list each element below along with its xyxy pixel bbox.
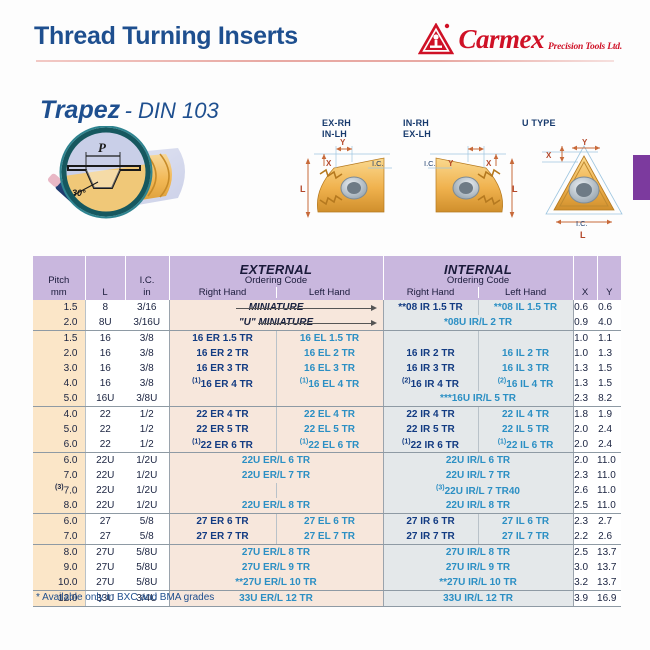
- svg-text:Y: Y: [582, 138, 588, 147]
- cell-l: 22: [85, 437, 125, 453]
- cell-external-rh: [169, 391, 276, 407]
- cell-ic: 3/8: [125, 376, 169, 391]
- cell-x: 1.0: [573, 331, 597, 347]
- cell-internal-lh: 27 IL 6 TR: [478, 514, 573, 530]
- header-rule: [36, 60, 614, 62]
- table-row: 8.027U5/8U27U ER/L 8 TR27U IR/L 8 TR2.51…: [33, 545, 621, 561]
- cell-y: 1.1: [597, 331, 621, 347]
- cell-pitch: 8.0: [33, 498, 85, 514]
- catalog-page: Thread Turning Inserts Carmex Precision …: [0, 0, 650, 650]
- brand-logo: Carmex Precision Tools Ltd.: [418, 22, 622, 56]
- table-row: 8.022U1/2U22U ER/L 8 TR22U IR/L 8 TR2.51…: [33, 498, 621, 514]
- cell-ic: 3/8: [125, 361, 169, 376]
- cell-internal-lh: 22 IL 5 TR: [478, 422, 573, 437]
- header-l: L: [85, 256, 125, 300]
- cell-y: 2.6: [597, 529, 621, 545]
- arrow-line: [258, 323, 374, 324]
- cell-l: 27: [85, 529, 125, 545]
- cell-external-span: 22U ER/L 8 TR: [169, 498, 383, 514]
- cell-external-rh: 16 ER 3 TR: [169, 361, 276, 376]
- cell-x: 1.3: [573, 376, 597, 391]
- cell-ic: 5/8U: [125, 560, 169, 575]
- cell-x: 1.3: [573, 361, 597, 376]
- cell-external-lh: 27 EL 7 TR: [276, 529, 383, 545]
- carmex-triangle-icon: [418, 23, 454, 55]
- cell-internal-span: 22U IR/L 7 TR: [383, 468, 573, 483]
- table-row: 6.0275/827 ER 6 TR27 EL 6 TR27 IR 6 TR27…: [33, 514, 621, 530]
- cell-l: 16: [85, 346, 125, 361]
- svg-text:L: L: [580, 230, 586, 240]
- table-row: 1.583/16MINIATURE**08 IR 1.5 TR**08 IL 1…: [33, 300, 621, 315]
- cell-ic: 1/2: [125, 437, 169, 453]
- table-row: 2.08U3/16U"U" MINIATURE*08U IR/L 2 TR0.9…: [33, 315, 621, 331]
- cell-y: 2.4: [597, 422, 621, 437]
- cell-ic: 3/8: [125, 331, 169, 347]
- cell-ic: 1/2U: [125, 498, 169, 514]
- cell-internal-span: 22U IR/L 6 TR: [383, 453, 573, 469]
- table-row: 9.027U5/8U27U ER/L 9 TR27U IR/L 9 TR3.01…: [33, 560, 621, 575]
- cell-external-rh: 22 ER 4 TR: [169, 407, 276, 423]
- cell-pitch: 5.0: [33, 422, 85, 437]
- cell-y: 16.9: [597, 591, 621, 607]
- cell-x: 2.6: [573, 483, 597, 498]
- cell-external-rh: 27 ER 6 TR: [169, 514, 276, 530]
- cell-y: 1.5: [597, 361, 621, 376]
- table-row: 6.022U1/2U22U ER/L 6 TR22U IR/L 6 TR2.01…: [33, 453, 621, 469]
- cell-ic: 5/8: [125, 514, 169, 530]
- cell-ic: 3/8U: [125, 391, 169, 407]
- header-int-right-hand: Right Hand: [384, 287, 478, 299]
- section-subtitle: Trapez - DIN 103: [40, 96, 219, 125]
- arrow-head-icon: [371, 305, 377, 311]
- cell-x: 1.0: [573, 346, 597, 361]
- cell-pitch: 1.5: [33, 331, 85, 347]
- cell-internal-lh: 22 IL 4 TR: [478, 407, 573, 423]
- svg-text:X: X: [546, 151, 552, 160]
- cell-pitch: 7.0: [33, 468, 85, 483]
- diagram-label-ex-rh-in-lh: EX-RHIN-LH: [322, 118, 351, 140]
- header-ic: I.C. in: [125, 256, 169, 300]
- cell-pitch: 3.0: [33, 361, 85, 376]
- cell-external-lh: 16 EL 2 TR: [276, 346, 383, 361]
- table-header-row: Pitch mm L I.C. in EXTERNAL Ordering Cod…: [33, 256, 621, 300]
- cell-internal-rh: **08 IR 1.5 TR: [383, 300, 478, 315]
- table-row: 5.0221/222 ER 5 TR22 EL 5 TR22 IR 5 TR22…: [33, 422, 621, 437]
- cell-x: 2.5: [573, 545, 597, 561]
- cell-external-span: 22U ER/L 6 TR: [169, 453, 383, 469]
- cell-y: 4.0: [597, 315, 621, 331]
- cell-internal-span: ***16U IR/L 5 TR: [383, 391, 573, 407]
- svg-text:L: L: [512, 184, 518, 194]
- cell-external-lh: (1)16 EL 4 TR: [276, 376, 383, 391]
- cell-external-rh: [169, 483, 276, 498]
- cell-y: 11.0: [597, 468, 621, 483]
- cell-pitch: 1.5: [33, 300, 85, 315]
- header-external: EXTERNAL Ordering Code Right Hand Left H…: [169, 256, 383, 300]
- cell-x: 2.3: [573, 514, 597, 530]
- cell-l: 22: [85, 422, 125, 437]
- cell-external-rh: 16 ER 2 TR: [169, 346, 276, 361]
- cell-pitch: 6.0: [33, 453, 85, 469]
- cell-y: 0.6: [597, 300, 621, 315]
- cell-l: 16U: [85, 391, 125, 407]
- cell-external-lh: 27 EL 6 TR: [276, 514, 383, 530]
- cell-ic: 3/16: [125, 300, 169, 315]
- table-row: 4.0221/222 ER 4 TR22 EL 4 TR22 IR 4 TR22…: [33, 407, 621, 423]
- table-row: 1.5163/816 ER 1.5 TR16 EL 1.5 TR1.01.1: [33, 331, 621, 347]
- cell-l: 27: [85, 514, 125, 530]
- table-row: 10.027U5/8U**27U ER/L 10 TR**27U IR/L 10…: [33, 575, 621, 591]
- cell-external-span: **27U ER/L 10 TR: [169, 575, 383, 591]
- cell-l: 22U: [85, 453, 125, 469]
- arrow-line: [236, 308, 375, 309]
- header-y: Y: [597, 256, 621, 300]
- svg-text:P: P: [98, 140, 107, 155]
- cell-internal-span: 33U IR/L 12 TR: [383, 591, 573, 607]
- diagram-label-u-type: U TYPE: [522, 118, 556, 129]
- arrow-head-icon: [371, 320, 377, 326]
- section-tab-marker: [633, 155, 650, 200]
- svg-text:Y: Y: [340, 138, 346, 147]
- cell-pitch: 4.0: [33, 407, 85, 423]
- cell-l: 22U: [85, 468, 125, 483]
- cell-y: 11.0: [597, 483, 621, 498]
- svg-text:Y: Y: [448, 159, 454, 168]
- svg-text:I.C.: I.C.: [576, 219, 588, 228]
- cell-external-rh: 22 ER 5 TR: [169, 422, 276, 437]
- cell-pitch: 6.0: [33, 437, 85, 453]
- table-row: 7.022U1/2U22U ER/L 7 TR22U IR/L 7 TR2.31…: [33, 468, 621, 483]
- cell-internal-span: 27U IR/L 8 TR: [383, 545, 573, 561]
- cell-pitch: 2.0: [33, 315, 85, 331]
- subtitle-suffix: - DIN 103: [125, 98, 219, 123]
- cell-y: 1.3: [597, 346, 621, 361]
- cell-internal-span: **27U IR/L 10 TR: [383, 575, 573, 591]
- subtitle-main: Trapez: [40, 96, 120, 124]
- cell-pitch: 4.0: [33, 376, 85, 391]
- cell-pitch: 6.0: [33, 514, 85, 530]
- cell-x: 2.3: [573, 468, 597, 483]
- cell-l: 27U: [85, 545, 125, 561]
- table-row: (3)7.022U1/2U(3)22U IR/L 7 TR402.611.0: [33, 483, 621, 498]
- brand-name: Carmex: [458, 26, 544, 53]
- cell-ic: 5/8U: [125, 575, 169, 591]
- insert-diagrams: EX-RHIN-LH IN-RHEX-LH U TYPE: [300, 118, 630, 228]
- cell-external-span: 22U ER/L 7 TR: [169, 468, 383, 483]
- cell-y: 8.2: [597, 391, 621, 407]
- cell-external-lh: 16 EL 1.5 TR: [276, 331, 383, 347]
- cell-x: 2.2: [573, 529, 597, 545]
- cell-internal-span: (3)22U IR/L 7 TR40: [383, 483, 573, 498]
- cell-l: 27U: [85, 560, 125, 575]
- header-internal: INTERNAL Ordering Code Right Hand Left H…: [383, 256, 573, 300]
- cell-y: 1.5: [597, 376, 621, 391]
- page-title: Thread Turning Inserts: [34, 22, 298, 51]
- header-x: X: [573, 256, 597, 300]
- cell-x: 2.0: [573, 453, 597, 469]
- header-pitch: Pitch mm: [33, 256, 85, 300]
- cell-external-lh: 16 EL 3 TR: [276, 361, 383, 376]
- table-row: 6.0221/2(1)22 ER 6 TR(1)22 EL 6 TR(1)22 …: [33, 437, 621, 453]
- cell-internal-span: 27U IR/L 9 TR: [383, 560, 573, 575]
- cell-x: 2.0: [573, 422, 597, 437]
- insert-specification-table: Pitch mm L I.C. in EXTERNAL Ordering Cod…: [33, 256, 621, 607]
- cell-x: 3.9: [573, 591, 597, 607]
- cell-pitch: 10.0: [33, 575, 85, 591]
- cell-l: 8: [85, 300, 125, 315]
- cell-x: 3.0: [573, 560, 597, 575]
- cell-internal-rh: [383, 331, 478, 347]
- cell-external-span: "U" MINIATURE: [169, 315, 383, 331]
- cell-l: 16: [85, 361, 125, 376]
- cell-pitch: 9.0: [33, 560, 85, 575]
- cell-external-span: 27U ER/L 9 TR: [169, 560, 383, 575]
- cell-y: 13.7: [597, 560, 621, 575]
- cell-internal-span: *08U IR/L 2 TR: [383, 315, 573, 331]
- cell-y: 1.9: [597, 407, 621, 423]
- diagram-label-in-rh-ex-lh: IN-RHEX-LH: [403, 118, 431, 140]
- cell-l: 8U: [85, 315, 125, 331]
- cell-y: 11.0: [597, 498, 621, 514]
- cell-l: 22U: [85, 498, 125, 514]
- cell-pitch: 8.0: [33, 545, 85, 561]
- cell-internal-lh: 16 IL 3 TR: [478, 361, 573, 376]
- cell-y: 2.4: [597, 437, 621, 453]
- table-row: 4.0163/8(1)16 ER 4 TR(1)16 EL 4 TR(2)16 …: [33, 376, 621, 391]
- table-row: 7.0275/827 ER 7 TR27 EL 7 TR27 IR 7 TR27…: [33, 529, 621, 545]
- cell-pitch: 5.0: [33, 391, 85, 407]
- cell-ic: 1/2U: [125, 483, 169, 498]
- cell-x: 1.8: [573, 407, 597, 423]
- table-row: 5.016U3/8U***16U IR/L 5 TR2.38.2: [33, 391, 621, 407]
- cell-y: 2.7: [597, 514, 621, 530]
- cell-y: 11.0: [597, 453, 621, 469]
- svg-text:I.C.: I.C.: [372, 159, 384, 168]
- cell-internal-lh: 16 IL 2 TR: [478, 346, 573, 361]
- cell-y: 13.7: [597, 575, 621, 591]
- cell-x: 2.3: [573, 391, 597, 407]
- header-ext-right-hand: Right Hand: [170, 287, 276, 299]
- table-row: 2.0163/816 ER 2 TR16 EL 2 TR16 IR 2 TR16…: [33, 346, 621, 361]
- cell-external-lh: [276, 483, 383, 498]
- cell-external-lh: [276, 391, 383, 407]
- cell-x: 0.6: [573, 300, 597, 315]
- table-body: 1.583/16MINIATURE**08 IR 1.5 TR**08 IL 1…: [33, 300, 621, 607]
- cell-pitch: 7.0: [33, 529, 85, 545]
- cell-internal-rh: 22 IR 4 TR: [383, 407, 478, 423]
- svg-text:L: L: [300, 184, 306, 194]
- thread-profile-illustration: P 30°: [28, 126, 208, 236]
- cell-external-lh: 22 EL 4 TR: [276, 407, 383, 423]
- table-footnote: * Available only in BXC and BMA grades: [36, 592, 214, 603]
- cell-l: 22: [85, 407, 125, 423]
- cell-internal-lh: (2)16 IL 4 TR: [478, 376, 573, 391]
- cell-ic: 5/8: [125, 529, 169, 545]
- cell-external-span: 27U ER/L 8 TR: [169, 545, 383, 561]
- cell-ic: 1/2: [125, 422, 169, 437]
- cell-l: 16: [85, 331, 125, 347]
- cell-external-rh: (1)22 ER 6 TR: [169, 437, 276, 453]
- cell-external-rh: (1)16 ER 4 TR: [169, 376, 276, 391]
- cell-internal-rh: (1)22 IR 6 TR: [383, 437, 478, 453]
- cell-x: 0.9: [573, 315, 597, 331]
- cell-internal-lh: 27 IL 7 TR: [478, 529, 573, 545]
- cell-internal-span: 22U IR/L 8 TR: [383, 498, 573, 514]
- svg-text:X: X: [326, 159, 332, 168]
- cell-internal-rh: 16 IR 2 TR: [383, 346, 478, 361]
- svg-text:X: X: [486, 159, 492, 168]
- cell-ic: 1/2U: [125, 468, 169, 483]
- cell-x: 3.2: [573, 575, 597, 591]
- cell-external-rh: 27 ER 7 TR: [169, 529, 276, 545]
- svg-text:I.C.: I.C.: [424, 159, 436, 168]
- cell-internal-lh: **08 IL 1.5 TR: [478, 300, 573, 315]
- cell-internal-lh: (1)22 IL 6 TR: [478, 437, 573, 453]
- cell-internal-rh: 22 IR 5 TR: [383, 422, 478, 437]
- cell-external-span: MINIATURE: [169, 300, 383, 315]
- header-int-left-hand: Left Hand: [478, 287, 573, 299]
- cell-x: 2.0: [573, 437, 597, 453]
- cell-internal-rh: 27 IR 6 TR: [383, 514, 478, 530]
- cell-l: 27U: [85, 575, 125, 591]
- cell-x: 2.5: [573, 498, 597, 514]
- cell-internal-rh: 27 IR 7 TR: [383, 529, 478, 545]
- cell-external-lh: (1)22 EL 6 TR: [276, 437, 383, 453]
- header-ext-left-hand: Left Hand: [276, 287, 383, 299]
- cell-l: 22U: [85, 483, 125, 498]
- cell-internal-rh: 16 IR 3 TR: [383, 361, 478, 376]
- cell-l: 16: [85, 376, 125, 391]
- cell-ic: 3/8: [125, 346, 169, 361]
- cell-internal-lh: [478, 331, 573, 347]
- brand-tagline: Precision Tools Ltd.: [548, 42, 622, 52]
- cell-pitch: 2.0: [33, 346, 85, 361]
- page-header: Thread Turning Inserts Carmex Precision …: [0, 0, 650, 72]
- cell-internal-rh: (2)16 IR 4 TR: [383, 376, 478, 391]
- cell-pitch: (3)7.0: [33, 483, 85, 498]
- cell-external-rh: 16 ER 1.5 TR: [169, 331, 276, 347]
- cell-ic: 1/2U: [125, 453, 169, 469]
- cell-external-lh: 22 EL 5 TR: [276, 422, 383, 437]
- cell-y: 13.7: [597, 545, 621, 561]
- cell-ic: 5/8U: [125, 545, 169, 561]
- table-row: 3.0163/816 ER 3 TR16 EL 3 TR16 IR 3 TR16…: [33, 361, 621, 376]
- cell-ic: 3/16U: [125, 315, 169, 331]
- cell-ic: 1/2: [125, 407, 169, 423]
